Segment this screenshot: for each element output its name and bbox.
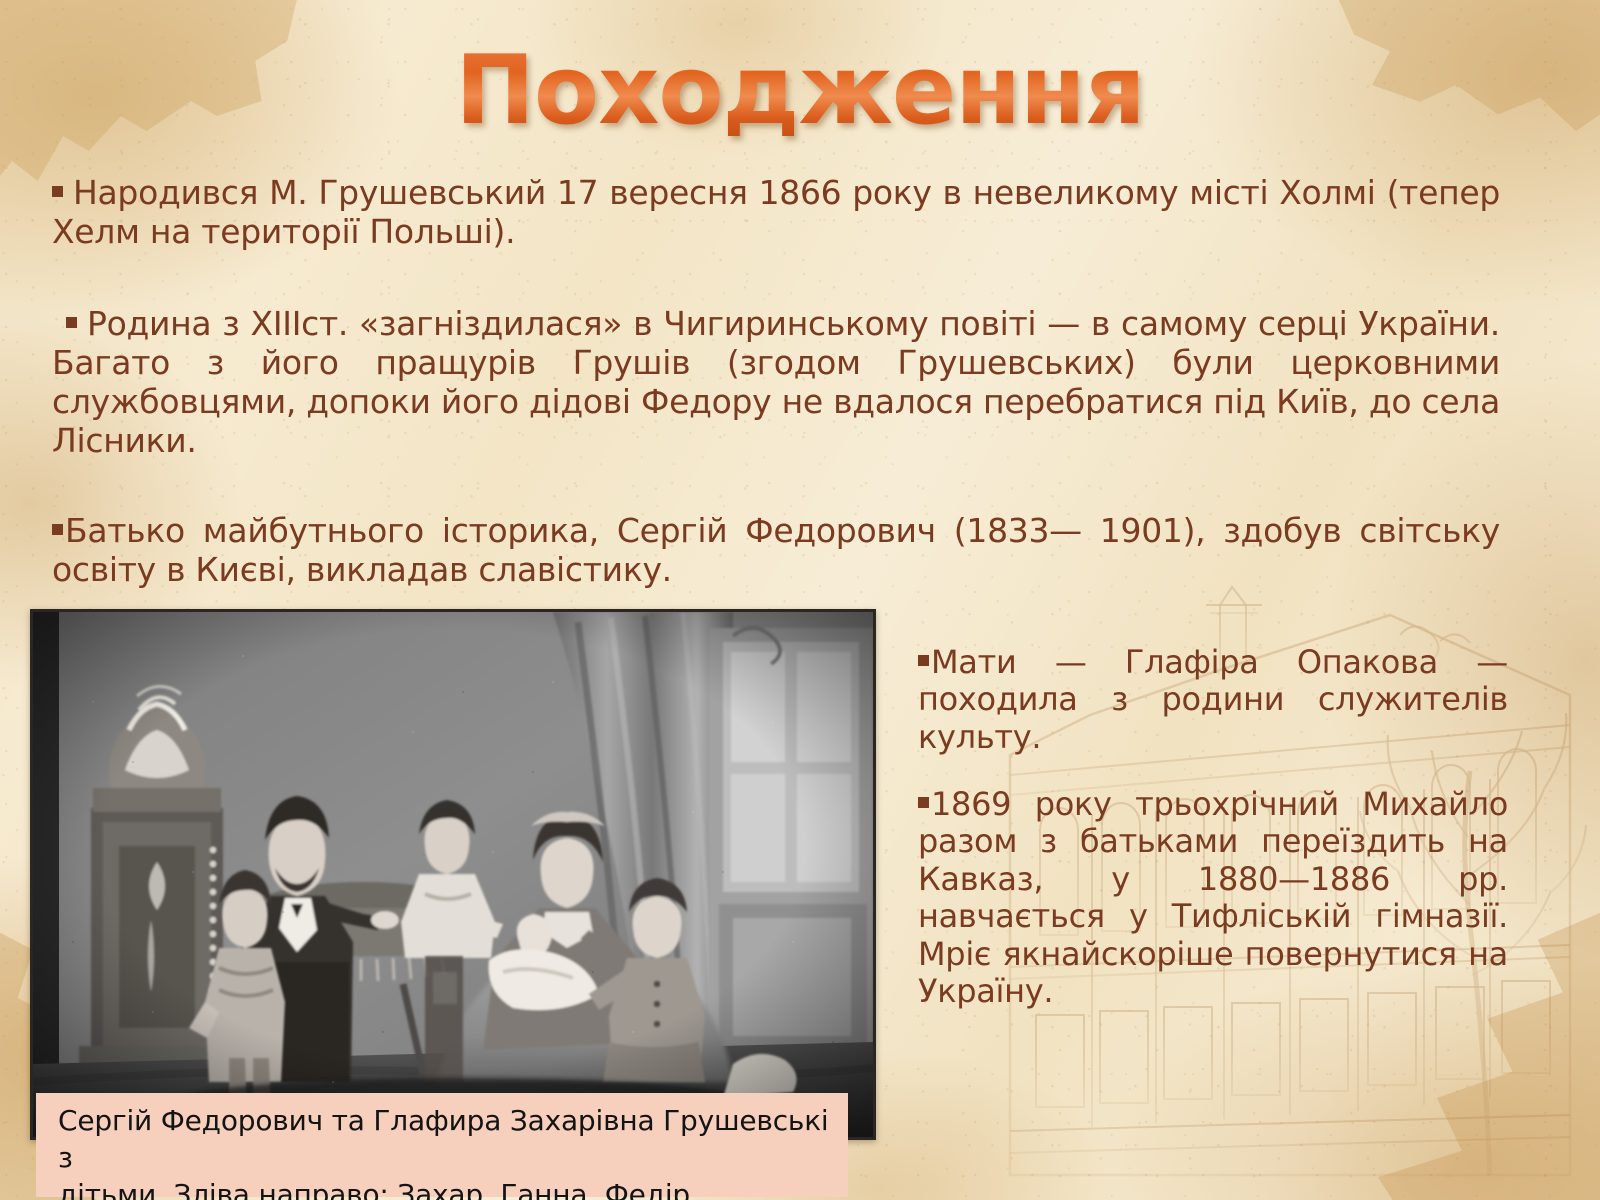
- paragraph-caucasus-text: 1869 року трьохрічний Михайло разом з ба…: [918, 785, 1508, 1010]
- square-bullet-icon: [66, 317, 77, 328]
- caption-line-2-prefix: дітьми. Зліва направо: Захар, Ганна, Фед…: [58, 1178, 699, 1200]
- family-photo: [30, 609, 876, 1140]
- paragraph-caucasus: 1869 року трьохрічний Михайло разом з ба…: [918, 786, 1508, 1011]
- paragraph-father-text: Батько майбутнього історика, Сергій Федо…: [52, 511, 1500, 589]
- paragraph-father: Батько майбутнього історика, Сергій Федо…: [52, 512, 1500, 590]
- slide-canvas: Походження Народився М. Грушевський 17 в…: [0, 0, 1600, 1200]
- caption-line-2: дітьми. Зліва направо: Захар, Ганна, Фед…: [58, 1177, 834, 1200]
- square-bullet-icon: [918, 655, 929, 666]
- paragraph-birth-text: Народився М. Грушевський 17 вересня 1866…: [52, 173, 1500, 251]
- paragraph-family-origin: Родина з XIIIст. «загніздилася» в Чигири…: [52, 305, 1500, 461]
- square-bullet-icon: [918, 797, 929, 808]
- photo-caption: Сергій Федорович та Глафира Захарівна Гр…: [36, 1093, 848, 1197]
- square-bullet-icon: [52, 524, 63, 535]
- paragraph-mother: Мати — Глафіра Опакова — походила з роди…: [918, 644, 1508, 756]
- page-title: Походження: [0, 44, 1600, 139]
- paragraph-family-origin-text: Родина з XIIIст. «загніздилася» в Чигири…: [52, 304, 1500, 460]
- square-bullet-icon: [52, 186, 63, 197]
- paragraph-birth: Народився М. Грушевський 17 вересня 1866…: [52, 174, 1500, 252]
- caption-line-1: Сергій Федорович та Глафира Захарівна Гр…: [58, 1103, 834, 1177]
- paragraph-mother-text: Мати — Глафіра Опакова — походила з роди…: [918, 643, 1508, 756]
